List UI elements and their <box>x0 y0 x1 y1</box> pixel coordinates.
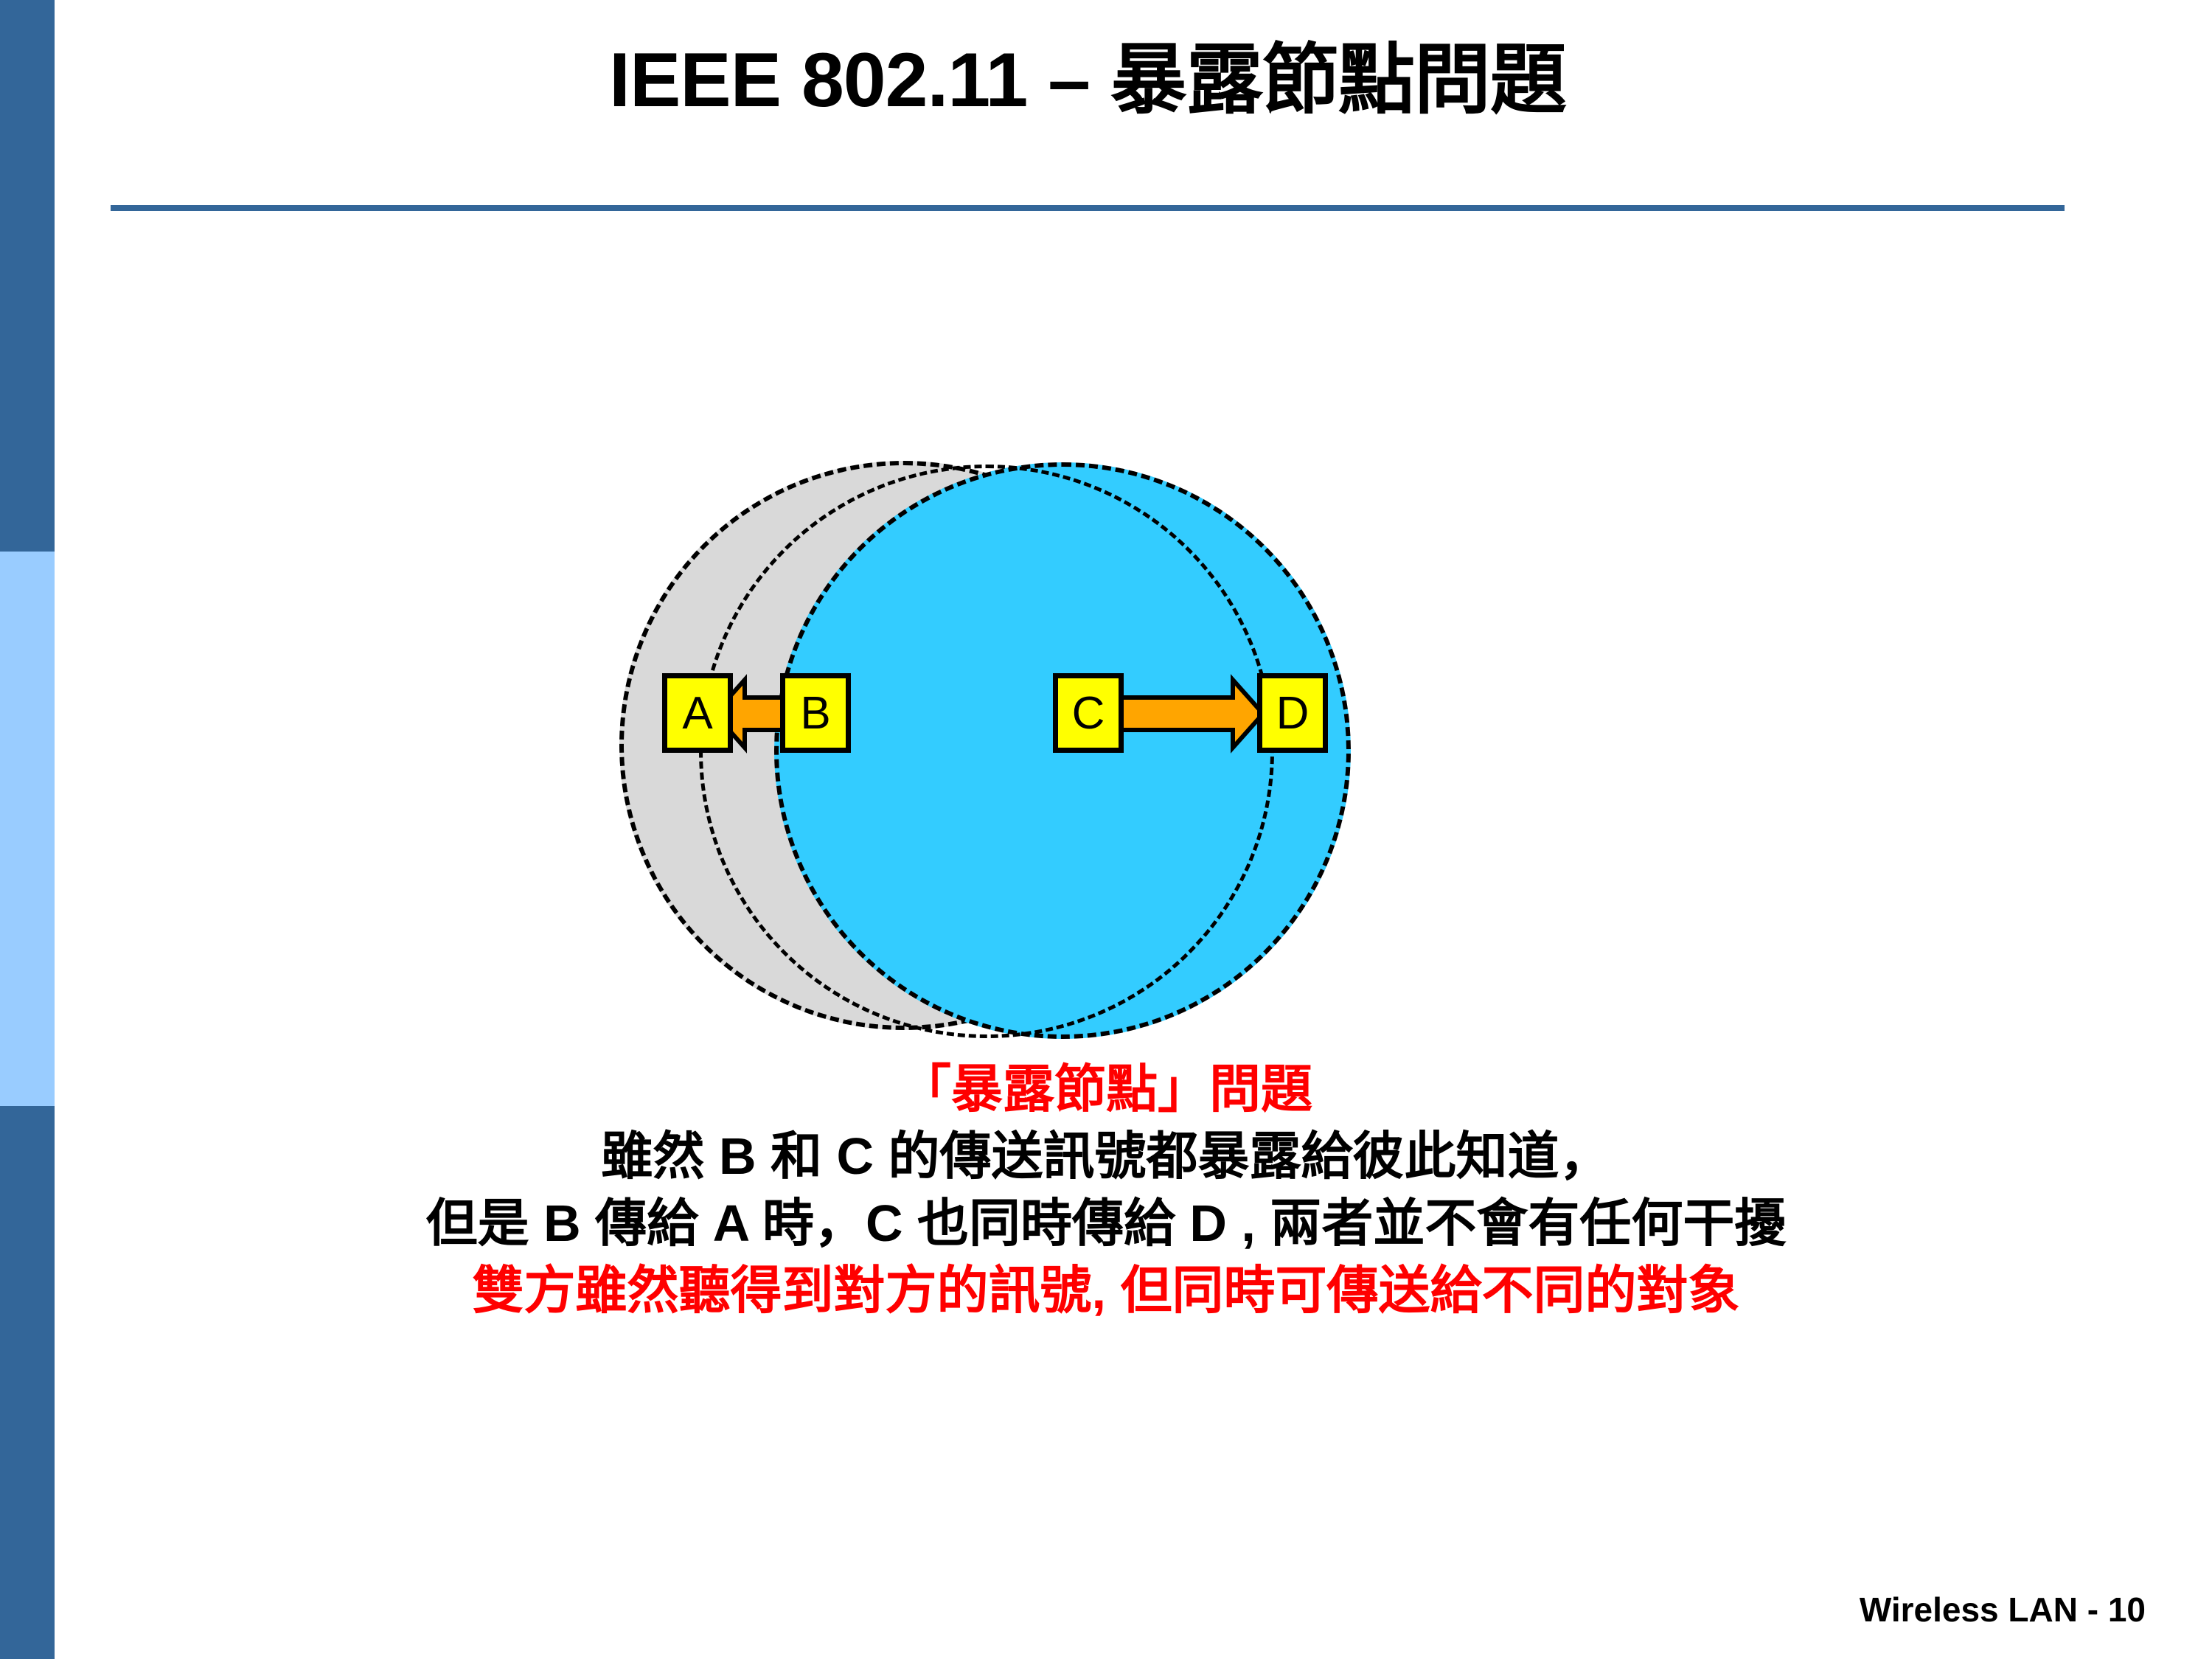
caption-line-2: 雖然 B 和 C 的傳送訊號都暴露給彼此知道， <box>111 1123 2101 1190</box>
slide-title: IEEE 802.11 – 暴露節點問題 <box>111 37 2065 125</box>
title-underline-rule <box>111 205 2065 211</box>
node-c: C <box>1053 673 1124 753</box>
node-a: A <box>662 673 733 753</box>
node-b: B <box>780 673 851 753</box>
node-d: D <box>1257 673 1328 753</box>
footer-page-label: Wireless LAN - 10 <box>1860 1590 2146 1630</box>
caption-line-1: 「暴露節點」問題 <box>111 1056 2101 1123</box>
sidebar-band-bottom <box>0 1106 55 1659</box>
decorative-sidebar <box>0 0 55 1659</box>
caption-line-3: 但是 B 傳給 A 時，C 也同時傳給 D , 兩者並不會有任何干擾 <box>111 1190 2101 1257</box>
sidebar-band-top <box>0 0 55 552</box>
sidebar-band-middle <box>0 552 55 1106</box>
caption-block: 「暴露節點」問題 雖然 B 和 C 的傳送訊號都暴露給彼此知道， 但是 B 傳給… <box>111 1056 2101 1324</box>
arrow-c-to-d-icon <box>1113 671 1265 757</box>
caption-line-4: 雙方雖然聽得到對方的訊號, 但同時可傳送給不同的對象 <box>111 1257 2101 1324</box>
exposed-node-diagram: A B C D <box>575 442 1445 1054</box>
